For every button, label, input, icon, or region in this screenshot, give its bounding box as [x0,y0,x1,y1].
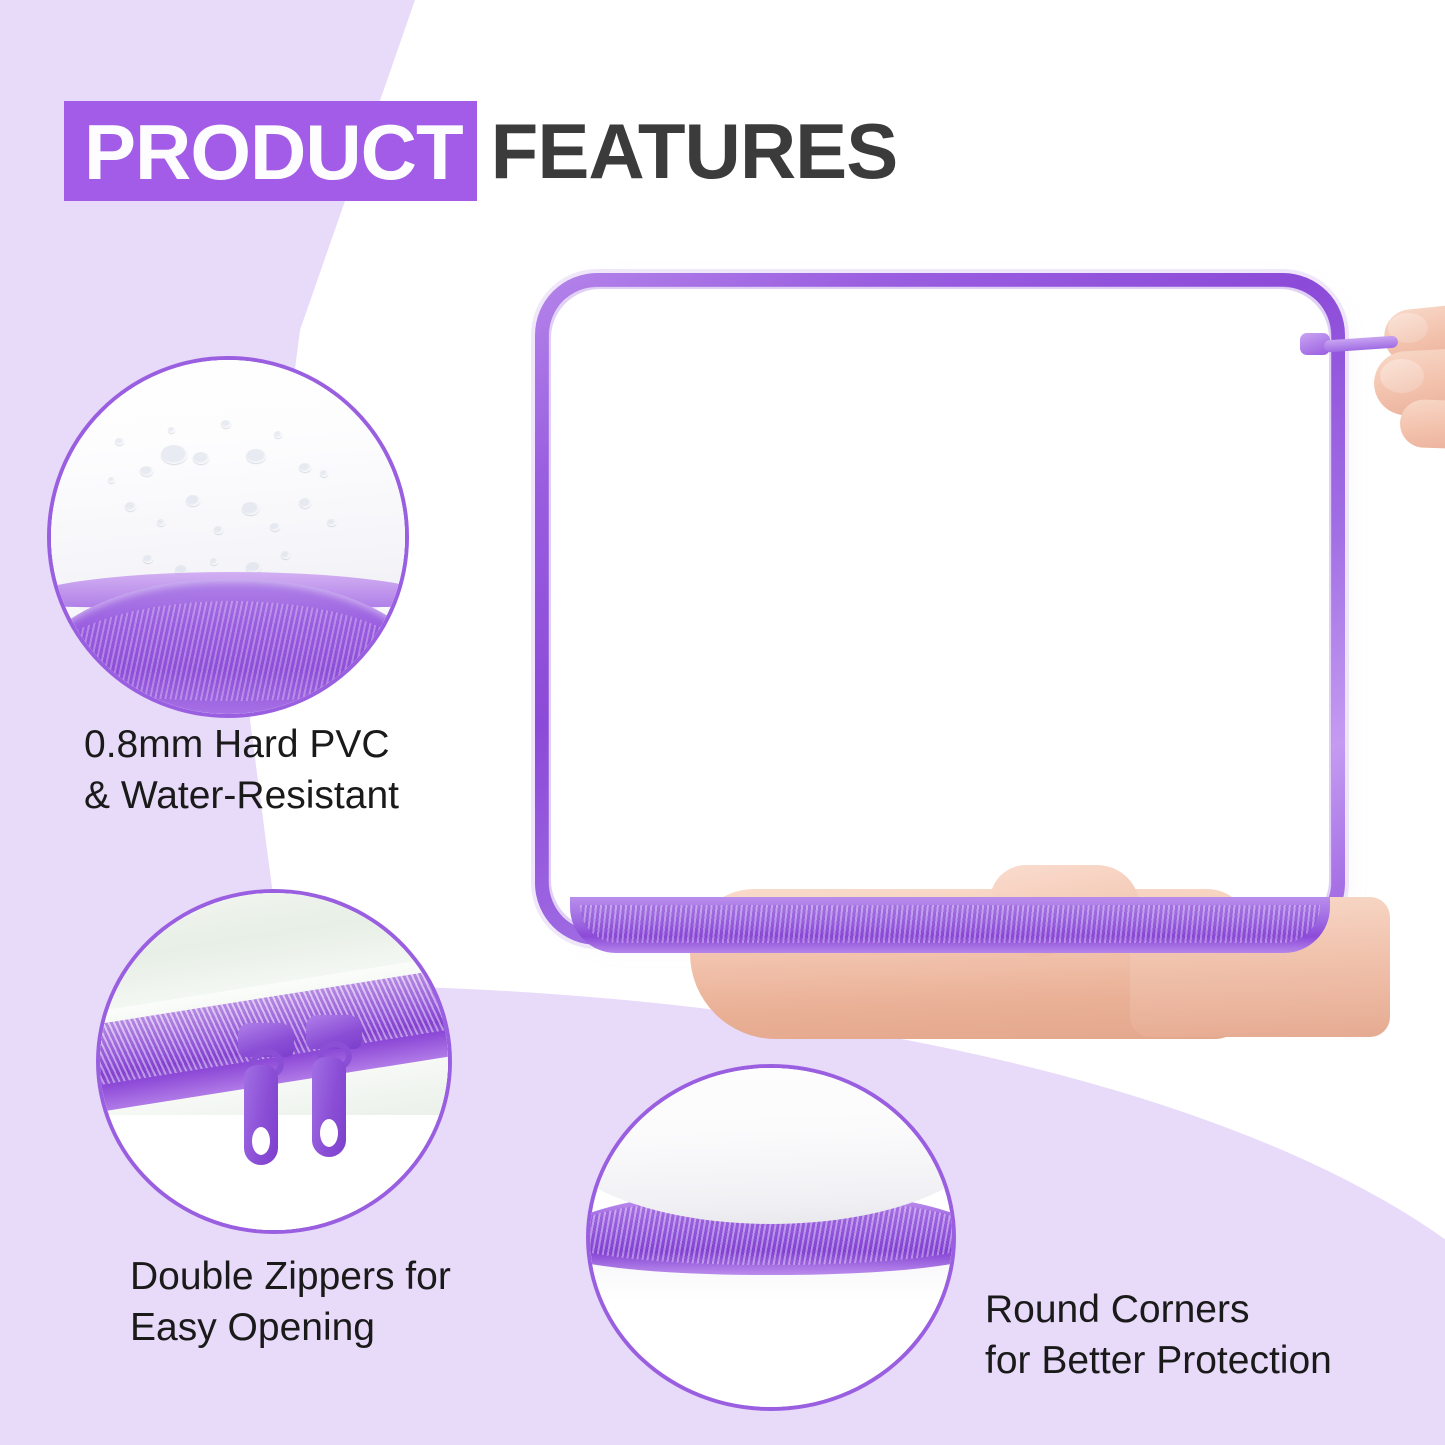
title-rest-wrapper: FEATURES [477,101,898,201]
perfume-bottle [1201,554,1345,884]
perfume-collar [1237,640,1311,656]
zipper-tab-left [244,1065,278,1165]
nail-polish-bottle [846,359,924,577]
middle-finger [1399,399,1445,451]
feature-image-double-zippers [96,889,452,1234]
fingernail [1380,359,1424,393]
pouch-label [631,682,1151,790]
compact-panel-left [948,484,1074,556]
zipper-strap [1324,335,1399,352]
feature-caption-water-resistant: 0.8mm Hard PVC & Water-Resistant [84,720,484,821]
clear-bag-body [535,273,1345,945]
feature-caption-round-corners: Round Corners for Better Protection [985,1285,1415,1386]
hand-pulling-zipper [1330,303,1445,451]
feature-caption-double-zippers: Double Zippers for Easy Opening [130,1252,550,1353]
compact-panel-right [1074,484,1198,556]
nail-polish-cap [858,359,912,479]
cherry-blossom-pouch [624,569,1181,901]
bird-icon [977,506,1014,530]
bag-rounded-lid [586,1064,956,1224]
title-rest-text: FEATURES [491,112,898,190]
cosmetic-tube [917,312,1321,502]
title-highlight-text: PRODUCT [84,113,463,191]
product-features-infographic: PRODUCT FEATURES [0,0,1445,1445]
perfume-liquid [1223,686,1327,834]
title-highlight-badge: PRODUCT [64,101,477,201]
bag-zipper-pull[interactable] [1300,333,1396,353]
feature-image-water-resistant [47,356,409,718]
zipper-tab-right [312,1057,346,1157]
page-title: PRODUCT FEATURES [64,101,897,201]
pouch-label-band [656,705,1126,767]
pagoda-icon [1086,584,1158,650]
feature-image-round-corners [586,1064,956,1411]
bag-bottom-zipper [570,897,1330,953]
cherry-blossom-compact [946,482,1200,558]
product-photo [510,255,1380,965]
compact-mirror [604,346,838,576]
